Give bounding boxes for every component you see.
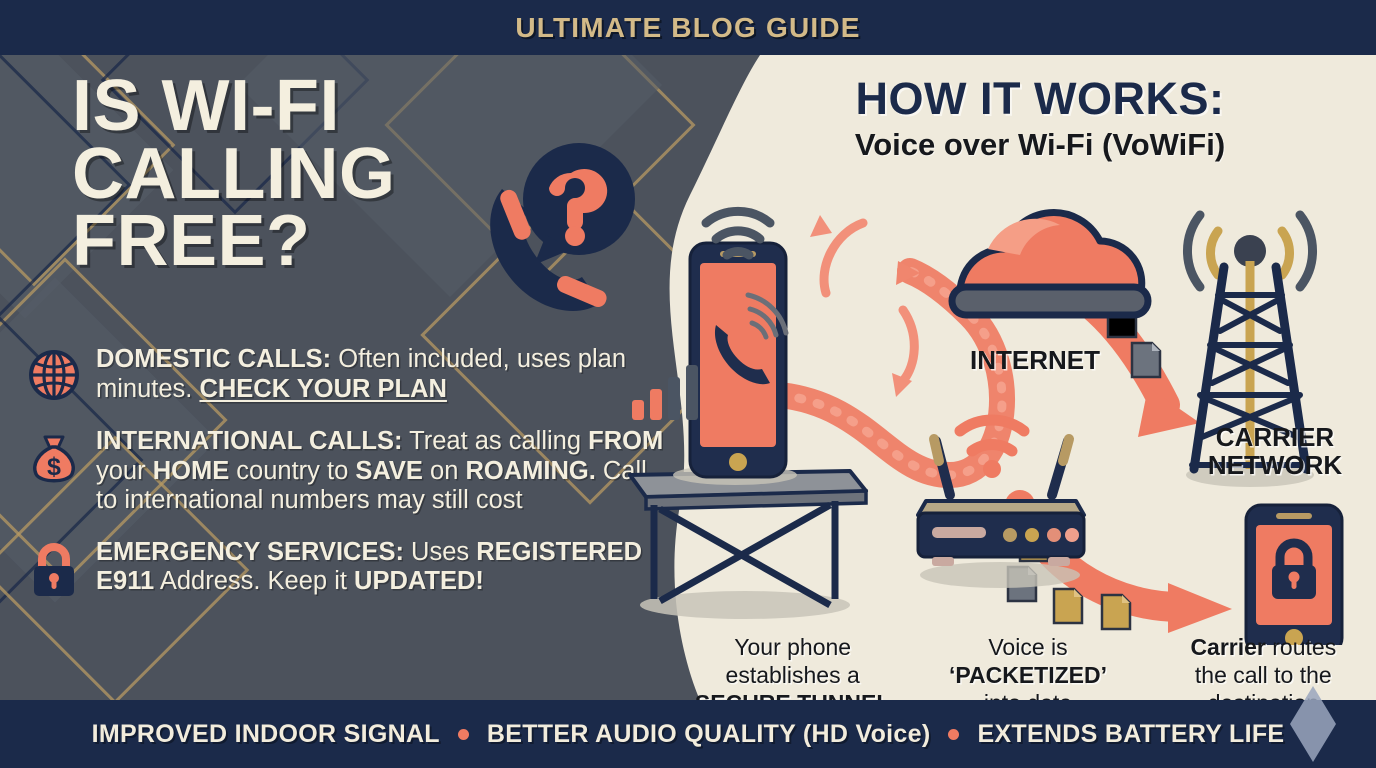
page-title: IS WI-FI CALLING FREE? bbox=[72, 73, 502, 276]
intl-bold-home: HOME bbox=[153, 457, 230, 485]
money-bag-icon: $ bbox=[28, 431, 80, 487]
footer-item-3: EXTENDS BATTERY LIFE bbox=[977, 720, 1284, 749]
table-illustration bbox=[630, 471, 866, 619]
bottom-banner: IMPROVED INDOOR SIGNAL BETTER AUDIO QUAL… bbox=[0, 700, 1376, 768]
banner-title: ULTIMATE BLOG GUIDE bbox=[515, 12, 860, 44]
caption-3-line-1-rest: routes bbox=[1266, 634, 1336, 660]
phone-question-icon bbox=[476, 137, 636, 332]
caption-3-line-2: the call to the bbox=[1151, 661, 1376, 689]
label-carrier-network: CARRIER NETWORK bbox=[1180, 423, 1370, 479]
caption-3-line-1-bold: Carrier bbox=[1190, 634, 1265, 660]
caption-secure-tunnel: Your phone establishes a SECURE TUNNEL bbox=[680, 633, 905, 700]
bullet-label-international: INTERNATIONAL CALLS: bbox=[96, 427, 402, 455]
list-item-international-calls: $ INTERNATIONAL CALLS: Treat as calling … bbox=[28, 427, 668, 516]
internet-cloud-icon bbox=[952, 213, 1148, 315]
source-phone-icon bbox=[673, 243, 797, 485]
intl-body-2: your bbox=[96, 457, 153, 485]
headline-line-2: CALLING bbox=[72, 141, 502, 209]
intl-body-1: Treat as calling bbox=[402, 427, 588, 455]
emg-body-2: Address. Keep it bbox=[154, 567, 354, 595]
router-icon bbox=[918, 420, 1084, 588]
step-captions: Your phone establishes a SECURE TUNNEL V… bbox=[680, 633, 1376, 700]
emg-bold-updated: UPDATED! bbox=[354, 567, 484, 595]
intl-body-4: on bbox=[423, 457, 466, 485]
emg-body-1: Uses bbox=[404, 538, 476, 566]
caption-1-line-2: establishes a bbox=[680, 661, 905, 689]
globe-icon bbox=[28, 349, 80, 405]
footer-item-2: BETTER AUDIO QUALITY (HD Voice) bbox=[487, 720, 931, 749]
caption-2-line-2: ‘PACKETIZED’ bbox=[949, 662, 1107, 688]
caption-carrier-routes: Carrier routes the call to the destinati… bbox=[1151, 633, 1376, 700]
caption-1-line-3: SECURE TUNNEL bbox=[695, 690, 891, 700]
footer-benefits-row: IMPROVED INDOOR SIGNAL BETTER AUDIO QUAL… bbox=[92, 720, 1285, 749]
body-area: IS WI-FI CALLING FREE? bbox=[0, 55, 1376, 700]
right-panel-heading: HOW IT WORKS: Voice over Wi-Fi (VoWiFi) bbox=[760, 73, 1320, 163]
infographic-canvas: ULTIMATE BLOG GUIDE IS WI-FI CALLING FRE… bbox=[0, 0, 1376, 768]
list-item-text-international: INTERNATIONAL CALLS: Treat as calling FR… bbox=[96, 427, 668, 516]
list-item-text-emergency: EMERGENCY SERVICES: Uses REGISTERED E911… bbox=[96, 538, 668, 597]
footer-separator-dot-2 bbox=[948, 729, 959, 740]
footer-separator-dot-1 bbox=[458, 729, 469, 740]
svg-text:$: $ bbox=[47, 453, 61, 481]
label-internet: INTERNET bbox=[955, 345, 1115, 376]
vowifi-subtitle: Voice over Wi-Fi (VoWiFi) bbox=[760, 127, 1320, 163]
label-carrier-line2: NETWORK bbox=[1180, 451, 1370, 479]
vowifi-flow-diagram bbox=[620, 175, 1376, 645]
list-item-domestic-calls: DOMESTIC CALLS: Often included, uses pla… bbox=[28, 345, 668, 405]
top-banner: ULTIMATE BLOG GUIDE bbox=[0, 0, 1376, 55]
intl-bold-save: SAVE bbox=[355, 457, 423, 485]
caption-1-line-1: Your phone bbox=[680, 633, 905, 661]
caption-packetized: Voice is ‘PACKETIZED’ into data bbox=[915, 633, 1140, 700]
caption-2-line-1: Voice is bbox=[915, 633, 1140, 661]
caption-2-line-3: into data bbox=[915, 689, 1140, 700]
intl-bold-roaming: ROAMING. bbox=[465, 457, 595, 485]
bullet-label-emergency: EMERGENCY SERVICES: bbox=[96, 538, 404, 566]
headline-line-3: FREE? bbox=[72, 208, 502, 276]
padlock-icon bbox=[28, 542, 80, 598]
bullet-label-domestic: DOMESTIC CALLS: bbox=[96, 345, 331, 373]
label-carrier-line1: CARRIER bbox=[1180, 423, 1370, 451]
list-item-text-domestic: DOMESTIC CALLS: Often included, uses pla… bbox=[96, 345, 668, 404]
signal-bars-icon bbox=[632, 365, 698, 420]
destination-phone-lock-icon bbox=[1246, 505, 1342, 645]
list-item-emergency-services: EMERGENCY SERVICES: Uses REGISTERED E911… bbox=[28, 538, 668, 598]
caption-3-line-3: destination bbox=[1151, 689, 1376, 700]
bullet-emphasis-check-plan: CHECK YOUR PLAN bbox=[199, 375, 446, 403]
footer-item-1: IMPROVED INDOOR SIGNAL bbox=[92, 720, 440, 749]
headline-line-1: IS WI-FI bbox=[72, 73, 502, 141]
benefits-list: DOMESTIC CALLS: Often included, uses pla… bbox=[28, 345, 668, 620]
intl-body-3: country to bbox=[229, 457, 355, 485]
how-it-works-title: HOW IT WORKS: bbox=[760, 73, 1320, 125]
